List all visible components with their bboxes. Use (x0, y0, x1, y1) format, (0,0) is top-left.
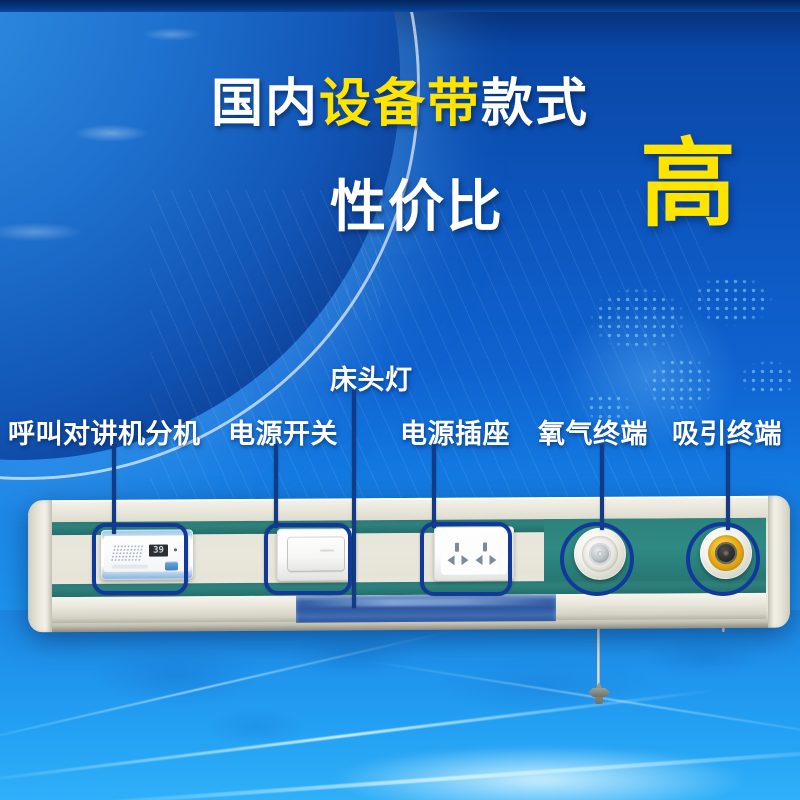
callout-bed-lamp: 床头灯 (330, 358, 413, 397)
leader-line-intercom (112, 444, 116, 534)
callout-oxygen-terminal: 氧气终端 (538, 412, 648, 451)
highlight-circle-suction (686, 522, 760, 596)
highlight-box-intercom (92, 523, 188, 595)
callout-nurse-call-intercom: 呼叫对讲机分机 (8, 412, 201, 451)
leader-line-switch (274, 444, 278, 528)
leader-line-socket (432, 444, 436, 528)
callout-power-switch: 电源开关 (228, 412, 338, 451)
highlight-box-switch (264, 523, 352, 595)
highlight-box-socket (420, 522, 512, 596)
callout-layer: 呼叫对讲机分机 电源开关 床头灯 电源插座 氧气终端 吸引终端 (0, 0, 800, 800)
leader-line-suction (726, 444, 730, 530)
promo-poster: 国内设备带款式 性价比 高 呼叫对讲机分机 电源开关 床头灯 电源插座 氧气终端… (0, 0, 800, 800)
leader-line-bed-lamp (352, 390, 356, 608)
leader-line-oxygen (600, 444, 604, 530)
highlight-circle-oxygen (560, 522, 634, 596)
callout-power-socket: 电源插座 (400, 412, 510, 451)
